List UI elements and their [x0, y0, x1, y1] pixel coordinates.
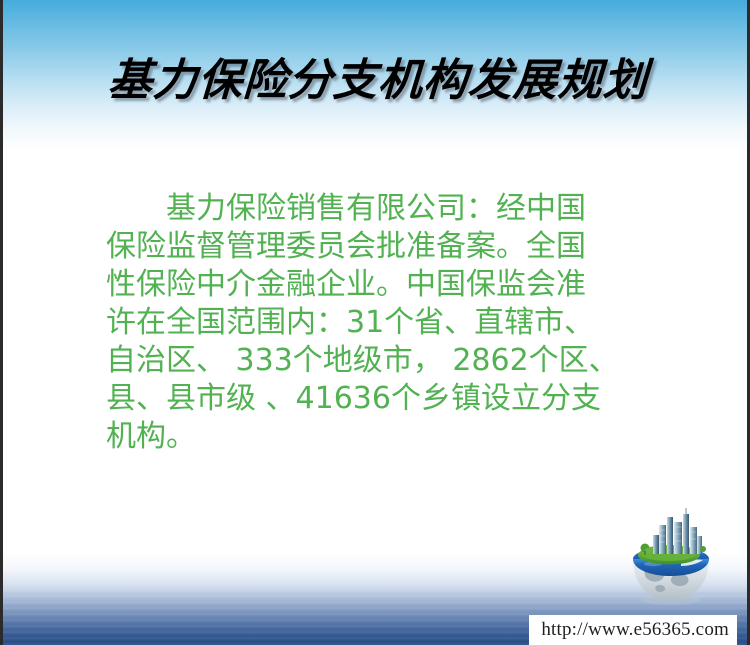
- slide-title: 基力保险分支机构发展规划: [107, 57, 650, 105]
- body-line: 自治区、 333个地级市， 2862个区、: [106, 342, 676, 380]
- body-line: 保险监督管理委员会批准备案。全国: [106, 228, 676, 266]
- body-line: 机构。: [106, 418, 676, 456]
- slide-body-text: 基力保险销售有限公司：经中国 保险监督管理委员会批准备案。全国 性保险中介金融企…: [106, 190, 676, 456]
- slide-title-container: 基力保险分支机构发展规划: [3, 57, 750, 105]
- body-line: 许在全国范围内：31个省、直辖市、: [106, 304, 676, 342]
- watermark-url-text: http://www.e56365.com: [541, 619, 729, 641]
- presentation-slide: 基力保险分支机构发展规划 基力保险销售有限公司：经中国 保险监督管理委员会批准备…: [0, 0, 750, 645]
- eco-city-globe-image: [623, 503, 719, 607]
- body-line: 性保险中介金融企业。中国保监会准: [106, 266, 676, 304]
- watermark-url-badge: http://www.e56365.com: [529, 615, 737, 645]
- body-line: 县、县市级 、41636个乡镇设立分支: [106, 380, 676, 418]
- body-line: 基力保险销售有限公司：经中国: [106, 190, 676, 228]
